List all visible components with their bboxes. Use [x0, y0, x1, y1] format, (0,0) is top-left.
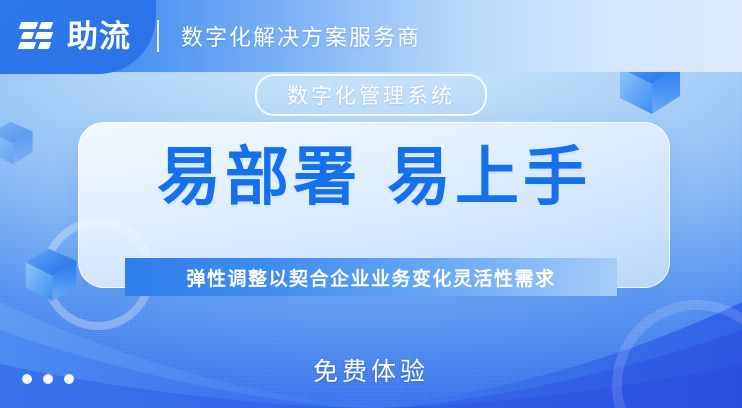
brand-name: 助流	[67, 21, 131, 52]
system-badge: 数字化管理系统	[255, 74, 487, 116]
hero-headline: 易部署易上手	[79, 145, 669, 209]
carousel-dot-3[interactable]	[64, 374, 74, 384]
flow-bolt-logo-icon	[18, 18, 58, 54]
hero-headline-part2: 易上手	[387, 141, 591, 213]
promo-banner: 助流 数字化解决方案服务商 数字化管理系统 易部署易上手 弹性调整以契合企业业务…	[0, 0, 742, 408]
hero-subtitle: 弹性调整以契合企业业务变化灵活性需求	[186, 264, 555, 291]
carousel-dot-2[interactable]	[43, 374, 53, 384]
brand-tagline: 数字化解决方案服务商	[181, 20, 421, 52]
header-divider	[157, 20, 159, 52]
hero-headline-part1: 易部署	[157, 141, 361, 213]
header: 助流 数字化解决方案服务商	[0, 0, 742, 72]
carousel-dots[interactable]	[22, 374, 74, 384]
free-trial-button[interactable]: 免费体验	[313, 352, 429, 388]
hero-subtitle-banner: 弹性调整以契合企业业务变化灵活性需求	[125, 258, 617, 296]
carousel-dot-1[interactable]	[22, 374, 32, 384]
